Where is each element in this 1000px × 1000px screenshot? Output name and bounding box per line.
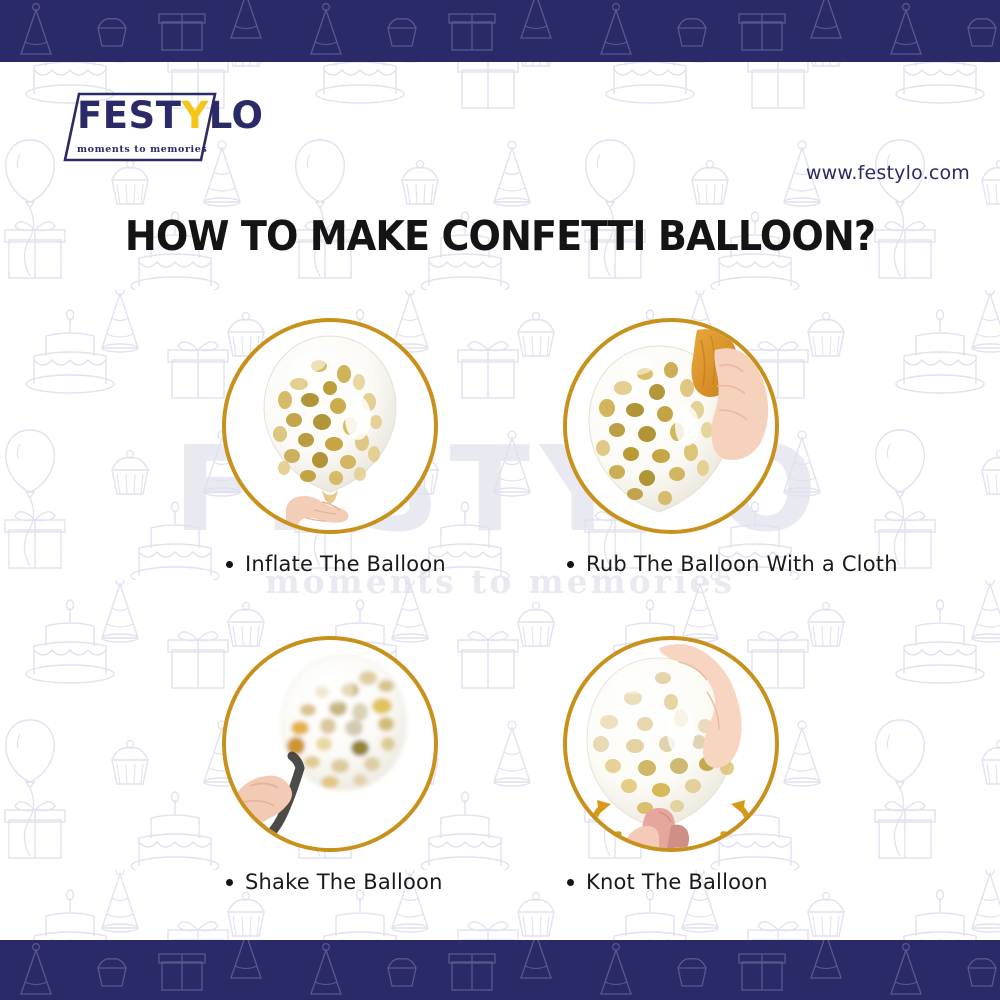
step-1-photo — [226, 322, 434, 530]
bullet-icon — [226, 879, 233, 886]
step-2-circle — [563, 318, 779, 534]
festylo-logo: FESTYLO moments to memories — [55, 88, 245, 166]
step-3-photo — [226, 640, 434, 848]
logo-word-part1: FEST — [77, 94, 181, 137]
logo-word-y: Y — [181, 94, 208, 137]
step-3-label: Shake The Balloon — [226, 870, 443, 894]
bottom-bar-pattern — [0, 940, 1000, 1000]
step-1-text: Inflate The Balloon — [245, 552, 446, 576]
top-navy-bar — [0, 0, 1000, 62]
website-url[interactable]: www.festylo.com — [806, 162, 970, 184]
step-2-photo — [567, 322, 775, 530]
bullet-icon — [567, 561, 574, 568]
step-4-photo — [567, 640, 775, 848]
logo-wordmark: FESTYLO — [77, 97, 263, 134]
step-item-3: Shake The Balloon — [222, 636, 438, 852]
steps-grid: Inflate The Balloon — [0, 318, 1000, 928]
poster-header: FESTYLO moments to memories www.festylo.… — [0, 62, 1000, 192]
step-2-text: Rub The Balloon With a Cloth — [586, 552, 898, 576]
step-item-2: Rub The Balloon With a Cloth — [563, 318, 779, 534]
step-2-label: Rub The Balloon With a Cloth — [567, 552, 898, 576]
bottom-navy-bar — [0, 940, 1000, 1000]
step-3-circle — [222, 636, 438, 852]
step-item-4: Knot The Balloon — [563, 636, 779, 852]
bullet-icon — [226, 561, 233, 568]
step-item-1: Inflate The Balloon — [222, 318, 438, 534]
step-3-text: Shake The Balloon — [245, 870, 443, 894]
step-4-label: Knot The Balloon — [567, 870, 768, 894]
step-4-text: Knot The Balloon — [586, 870, 768, 894]
logo-tagline: moments to memories — [77, 144, 207, 155]
logo-word-part2: LO — [209, 94, 264, 137]
step-1-label: Inflate The Balloon — [226, 552, 446, 576]
bullet-icon — [567, 879, 574, 886]
infographic-poster: FESTYLO moments to memories www.festylo.… — [0, 0, 1000, 1000]
top-bar-pattern — [0, 0, 1000, 62]
page-title: HOW TO MAKE CONFETTI BALLOON? — [35, 212, 965, 260]
step-4-circle — [563, 636, 779, 852]
step-1-circle — [222, 318, 438, 534]
